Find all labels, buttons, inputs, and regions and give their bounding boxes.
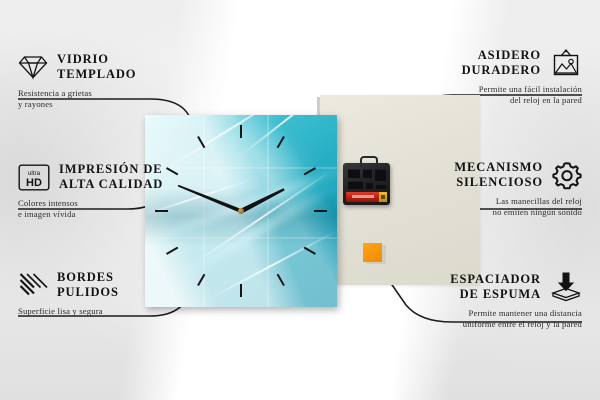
hour-marker — [277, 136, 285, 148]
mechanism-detail — [363, 169, 372, 178]
polished-edges-icon — [18, 272, 48, 298]
feature-description: Colores intensos e imagen vívida — [18, 198, 198, 222]
feature-heading: ultra HD IMPRESIÓN DE ALTA CALIDAD — [18, 162, 198, 193]
hour-marker — [240, 284, 242, 297]
feature-title: IMPRESIÓN DE ALTA CALIDAD — [59, 162, 163, 193]
feature-title: MECANISMO SILENCIOSO — [454, 160, 543, 191]
feature-description: Resistencia a grietas y rayones — [18, 88, 188, 112]
diamond-icon — [18, 54, 48, 80]
battery-label — [352, 195, 374, 198]
mechanism-detail — [376, 184, 386, 189]
feather-streak — [239, 115, 335, 157]
svg-text:HD: HD — [26, 177, 42, 189]
feature-heading: ESPACIADOR DE ESPUMA — [372, 272, 582, 303]
feature-title: ASIDERO DURADERO — [462, 48, 541, 79]
clock-mechanism — [343, 163, 390, 205]
mechanism-detail — [348, 181, 363, 189]
down-arrow-pad-icon — [550, 272, 582, 302]
battery-positive-terminal — [379, 192, 387, 202]
feature-description: Superficie lisa y segura — [18, 306, 198, 318]
hour-marker — [277, 274, 285, 286]
feature-vidrio-templado: VIDRIO TEMPLADO Resistencia a grietas y … — [18, 52, 188, 111]
mechanism-detail — [366, 182, 373, 189]
battery — [346, 192, 387, 202]
infographic-canvas: VIDRIO TEMPLADO Resistencia a grietas y … — [0, 0, 600, 400]
clock-hub — [238, 208, 244, 214]
mechanism-hanger — [360, 156, 378, 167]
feature-asidero-duradero: ASIDERO DURADERO Permite una fácil insta… — [392, 48, 582, 107]
feature-description: Permite una fácil instalación del reloj … — [392, 84, 582, 108]
svg-text:ultra: ultra — [28, 170, 41, 177]
feature-heading: BORDES PULIDOS — [18, 270, 198, 301]
picture-frame-hanger-icon — [550, 49, 582, 77]
hour-marker — [240, 125, 242, 138]
feature-title: VIDRIO TEMPLADO — [57, 52, 136, 83]
hour-marker — [314, 210, 327, 212]
gear-icon — [552, 160, 582, 190]
feature-title: BORDES PULIDOS — [57, 270, 119, 301]
ultra-hd-icon: ultra HD — [18, 164, 50, 191]
mechanism-detail — [375, 169, 386, 181]
feature-impresion-alta-calidad: ultra HD IMPRESIÓN DE ALTA CALIDAD Color… — [18, 162, 198, 221]
feature-bordes-pulidos: BORDES PULIDOS Superficie lisa y segura — [18, 270, 198, 317]
hour-marker — [166, 247, 178, 255]
feature-heading: ASIDERO DURADERO — [392, 48, 582, 79]
feature-description: Las manecillas del reloj no emiten ningú… — [387, 196, 582, 220]
feature-heading: MECANISMO SILENCIOSO — [387, 160, 582, 191]
hour-marker — [304, 247, 316, 255]
feature-description: Permite mantener una distancia uniforme … — [372, 308, 582, 332]
feature-espaciador-de-espuma: ESPACIADOR DE ESPUMA Permite mantener un… — [372, 272, 582, 331]
feature-mecanismo-silencioso: MECANISMO SILENCIOSO Las manecillas del … — [387, 160, 582, 219]
feature-title: ESPACIADOR DE ESPUMA — [450, 272, 541, 303]
mechanism-detail — [348, 169, 360, 178]
foam-spacer-pad — [363, 243, 382, 262]
feature-heading: VIDRIO TEMPLADO — [18, 52, 188, 83]
